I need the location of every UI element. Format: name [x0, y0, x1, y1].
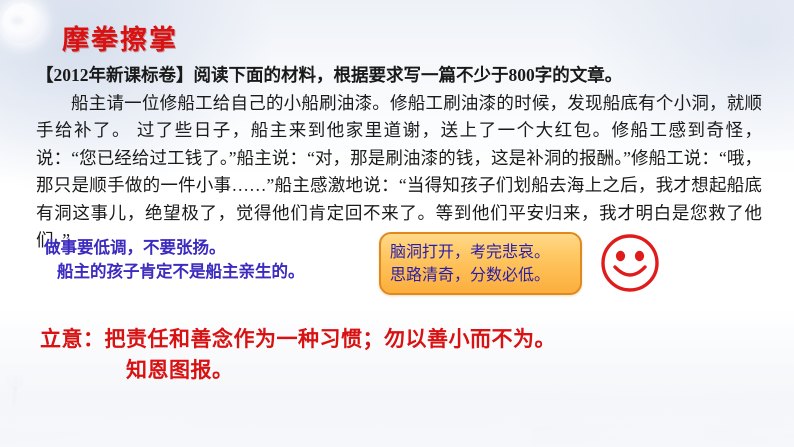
moon-icon: [2, 3, 42, 43]
student-notes: 做事要低调，不要张扬。 船主的孩子肯定不是船主亲生的。: [44, 236, 305, 284]
conclusion-line-2: 知恩图报。: [40, 355, 752, 386]
passage-body: 船主请一位修船工给自己的小船刷油漆。修船工刷油漆的时候，发现船底有个小洞，就顺手…: [36, 90, 762, 255]
page-title: 摩拳擦掌: [62, 18, 178, 57]
student-note-line-1: 做事要低调，不要张扬。: [44, 238, 226, 257]
smiley-face-icon: [599, 232, 661, 299]
callout-line-2: 思路清奇，分数必低。: [390, 263, 571, 286]
callout-box: 脑洞打开，考完悲哀。 思路清奇，分数必低。: [379, 232, 582, 295]
conclusion-line-1: 立意：把责任和善念作为一种习惯；勿以善小而不为。: [40, 324, 752, 355]
callout-line-1: 脑洞打开，考完悲哀。: [390, 240, 571, 263]
passage-prompt: 【2012年新课标卷】阅读下面的材料，根据要求写一篇不少于800字的文章。: [36, 65, 622, 85]
conclusion-text: 立意：把责任和善念作为一种习惯；勿以善小而不为。 知恩图报。: [40, 324, 752, 386]
passage-text: 【2012年新课标卷】阅读下面的材料，根据要求写一篇不少于800字的文章。 船主…: [36, 62, 762, 255]
slide-canvas: 摩拳擦掌 【2012年新课标卷】阅读下面的材料，根据要求写一篇不少于800字的文…: [0, 0, 794, 447]
student-note-line-2: 船主的孩子肯定不是船主亲生的。: [44, 260, 305, 284]
